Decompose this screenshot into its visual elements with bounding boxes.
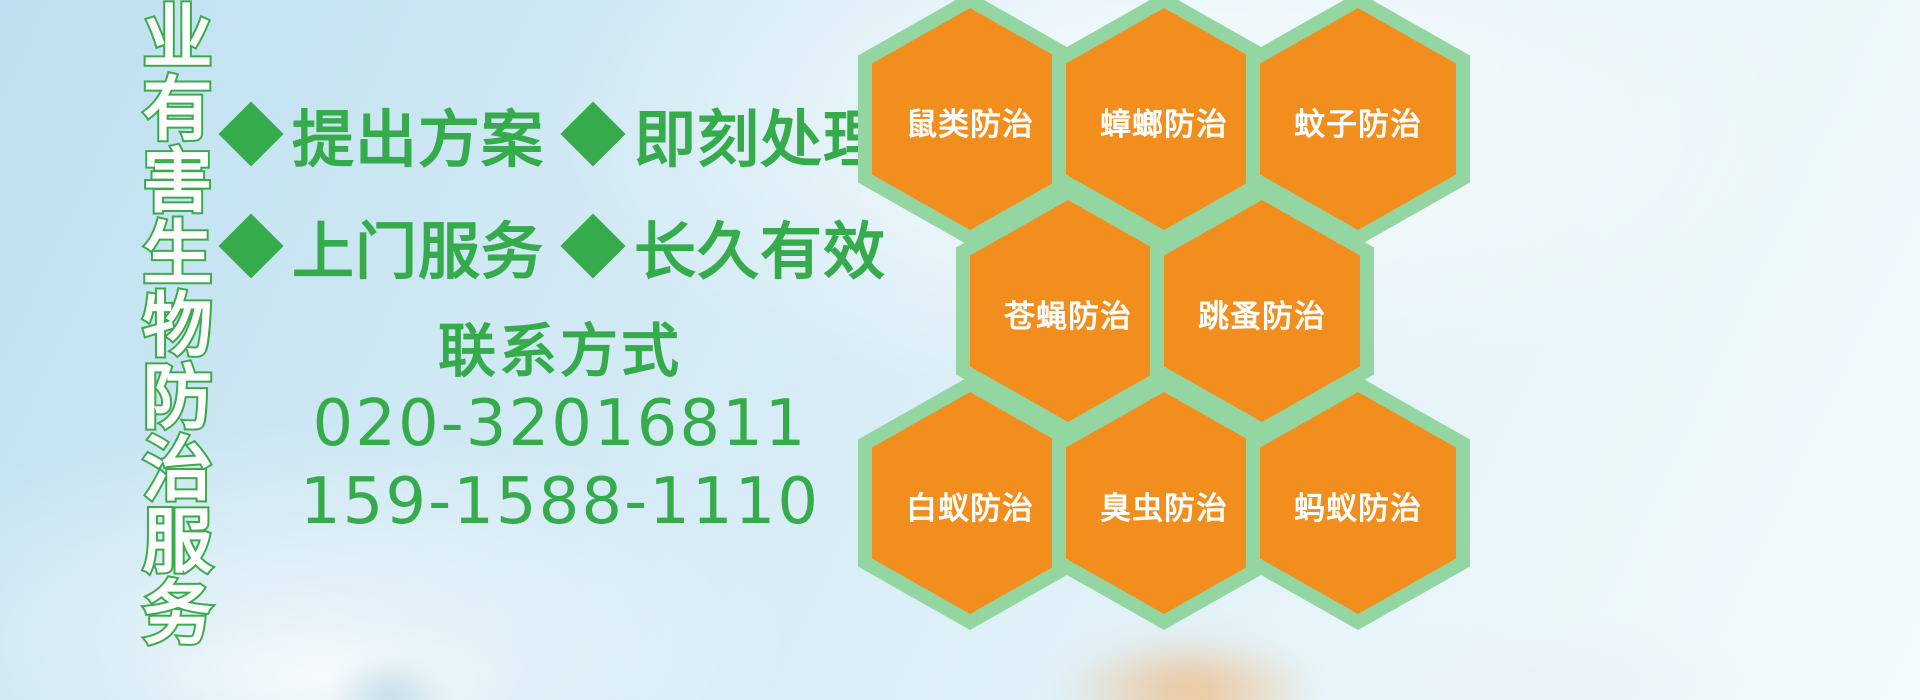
hex-label: 蚂蚁防治 xyxy=(1294,483,1422,528)
hex-label: 跳蚤防治 xyxy=(1198,291,1326,336)
hex-label: 蚊子防治 xyxy=(1294,99,1422,144)
hex-fill: 鼠类防治 xyxy=(872,8,1068,230)
hex-label: 蟑螂防治 xyxy=(1100,99,1228,144)
floor-reflection-orange xyxy=(1060,636,1320,700)
hex-fill: 白蚁防治 xyxy=(872,392,1068,614)
contact-title: 联系方式 xyxy=(250,318,870,385)
feature-label: 上门服务 xyxy=(292,201,544,291)
feature-label: 即刻处理 xyxy=(634,89,886,179)
floor-reflection-right xyxy=(1330,630,1750,700)
floor-reflection-left-small xyxy=(330,660,450,700)
service-honeycomb: 鼠类防治 蟑螂防治 蚊子防治 苍蝇防治 跳蚤防治 白蚁防 xyxy=(862,0,1462,544)
phone-mobile[interactable]: 159-1588-1110 xyxy=(250,463,870,541)
hex-label: 鼠类防治 xyxy=(906,99,1034,144)
feature-row: 提出方案 即刻处理 xyxy=(228,78,868,190)
feature-label: 提出方案 xyxy=(292,89,544,179)
hex-label: 苍蝇防治 xyxy=(1004,291,1132,336)
hex-fill: 蚂蚁防治 xyxy=(1260,392,1456,614)
hex-fill: 蟑螂防治 xyxy=(1066,8,1262,230)
diamond-bullet-icon xyxy=(218,213,283,278)
diamond-bullet-icon xyxy=(560,213,625,278)
hex-label: 臭虫防治 xyxy=(1100,483,1228,528)
feature-row: 上门服务 长久有效 xyxy=(228,190,868,302)
vertical-headline: 专业有害生物防治服务 xyxy=(110,8,206,568)
contact-block: 联系方式 020-32016811 159-1588-1110 xyxy=(250,318,870,541)
phone-landline[interactable]: 020-32016811 xyxy=(250,385,870,463)
hex-fill: 跳蚤防治 xyxy=(1164,200,1360,422)
hex-fill: 臭虫防治 xyxy=(1066,392,1262,614)
diamond-bullet-icon xyxy=(218,101,283,166)
hex-fill: 蚊子防治 xyxy=(1260,8,1456,230)
diamond-bullet-icon xyxy=(560,101,625,166)
hex-fill: 苍蝇防治 xyxy=(970,200,1166,422)
pest-control-service-banner: 专业有害生物防治服务 提出方案 即刻处理 上门服务 长久有效 联系方式 020-… xyxy=(0,0,1920,700)
hex-label: 白蚁防治 xyxy=(906,483,1034,528)
feature-label: 长久有效 xyxy=(634,201,886,291)
feature-list: 提出方案 即刻处理 上门服务 长久有效 xyxy=(228,78,868,302)
